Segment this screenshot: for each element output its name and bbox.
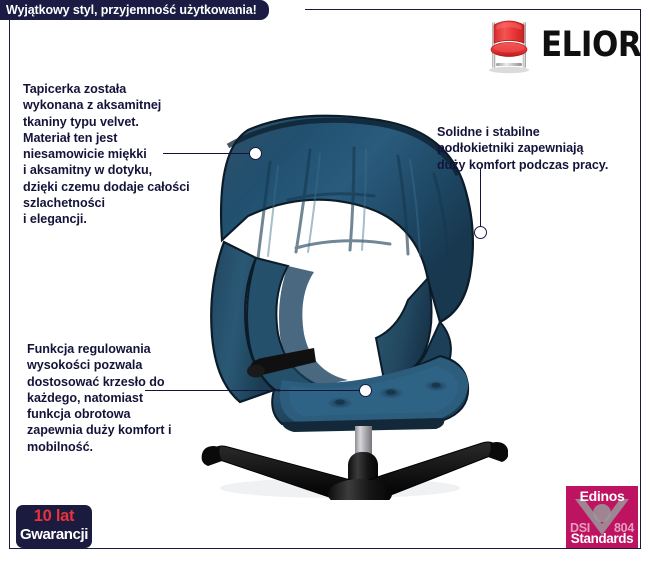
frame-border-left [9, 20, 10, 549]
certification-badge-edinos: Edinos DSI 804 Standards [566, 486, 638, 548]
warranty-badge: 10 lat Gwarancji [16, 505, 92, 548]
brand-name: ELIOR [541, 28, 641, 63]
callout-leader-line-armrests [480, 168, 481, 232]
frame-border-right [640, 9, 641, 549]
warranty-years-label: 10 lat [16, 507, 92, 526]
callout-hotspot-armrests[interactable] [474, 226, 487, 239]
certification-standard-label: Standards [566, 531, 638, 546]
frame-border-bottom [9, 548, 641, 549]
callout-hotspot-upholstery[interactable] [249, 147, 262, 160]
headline-banner: Wyjątkowy styl, przyjemność użytkowania! [0, 0, 269, 20]
brand-logo: ELIOR [483, 14, 638, 76]
callout-text-height-adjustment: Funkcja regulowania wysokości pozwala do… [27, 341, 232, 455]
frame-border-top [305, 9, 641, 10]
warranty-text-label: Gwarancji [16, 526, 92, 544]
red-chair-icon [483, 16, 535, 74]
certification-title: Edinos [566, 488, 638, 504]
product-infographic: Wyjątkowy styl, przyjemność użytkowania! [0, 0, 650, 564]
callout-hotspot-height-adjustment[interactable] [359, 384, 372, 397]
callout-text-armrests: Solidne i stabilne podłokietniki zapewni… [437, 124, 642, 173]
callout-text-upholstery: Tapicerka została wykonana z aksamitnej … [23, 81, 238, 228]
